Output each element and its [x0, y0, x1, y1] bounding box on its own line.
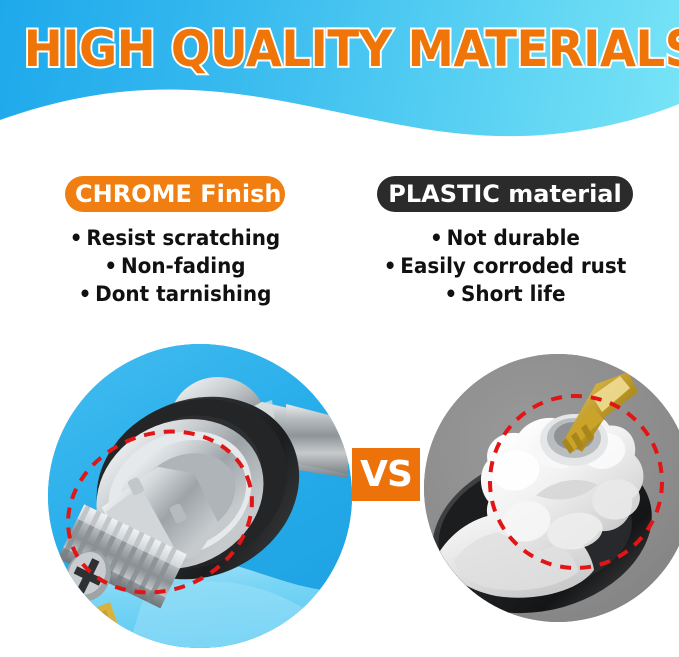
- list-item-label: Easily corroded rust: [400, 254, 626, 278]
- plastic-drawbacks-list: •Not durable •Easily corroded rust •Shor…: [340, 224, 670, 308]
- bullet-dot-icon: •: [79, 280, 92, 308]
- bullet-dot-icon: •: [104, 252, 117, 280]
- vs-badge-label: VS: [360, 457, 412, 493]
- list-item: •Not durable: [348, 224, 662, 252]
- plastic-badge-label: PLASTIC material: [388, 180, 621, 208]
- chrome-finish-badge: CHROME Finish: [65, 176, 285, 212]
- page-title: HIGH QUALITY MATERIALS: [24, 24, 655, 74]
- header-wave-divider: [0, 80, 679, 160]
- bullet-dot-icon: •: [70, 224, 83, 252]
- bullet-dot-icon: •: [430, 224, 443, 252]
- plastic-comparison-column: PLASTIC material •Not durable •Easily co…: [340, 176, 670, 308]
- chrome-product-photo: [48, 344, 352, 648]
- chrome-comparison-column: CHROME Finish •Resist scratching •Non-fa…: [10, 176, 340, 308]
- plastic-product-photo: [424, 354, 679, 622]
- header-banner: HIGH QUALITY MATERIALS: [0, 0, 679, 160]
- chrome-product-illustration: [48, 344, 352, 648]
- bullet-dot-icon: •: [384, 252, 397, 280]
- list-item: •Short life: [348, 280, 662, 308]
- plastic-material-badge: PLASTIC material: [377, 176, 633, 212]
- vs-badge: VS: [352, 448, 420, 501]
- list-item-label: Short life: [461, 282, 565, 306]
- list-item: •Resist scratching: [18, 224, 332, 252]
- list-item-label: Not durable: [447, 226, 580, 250]
- list-item: •Easily corroded rust: [348, 252, 662, 280]
- list-item: •Non-fading: [18, 252, 332, 280]
- plastic-product-illustration: [424, 354, 679, 622]
- bullet-dot-icon: •: [444, 280, 457, 308]
- list-item-label: Dont tarnishing: [95, 282, 271, 306]
- list-item-label: Non-fading: [121, 254, 246, 278]
- list-item: •Dont tarnishing: [18, 280, 332, 308]
- list-item-label: Resist scratching: [86, 226, 280, 250]
- chrome-badge-label: CHROME Finish: [75, 180, 282, 208]
- chrome-benefits-list: •Resist scratching •Non-fading •Dont tar…: [10, 224, 340, 308]
